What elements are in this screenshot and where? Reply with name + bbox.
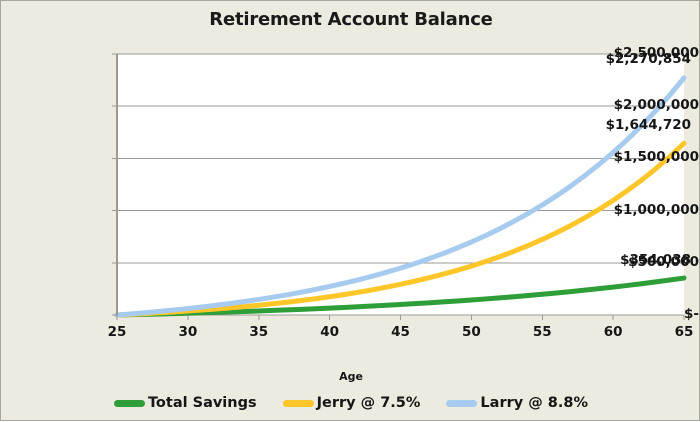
legend-item[interactable]: Total Savings bbox=[114, 395, 257, 411]
x-axis-tick-label: 55 bbox=[522, 324, 562, 340]
y-axis-tick-label: $1,000,000 bbox=[591, 202, 699, 218]
x-axis-tick-label: 50 bbox=[451, 324, 491, 340]
y-axis-tick-label: $1,500,000 bbox=[591, 149, 699, 165]
x-axis-tick-label: 25 bbox=[97, 324, 137, 340]
legend-color-swatch bbox=[283, 400, 314, 407]
series-end-value-label: $2,270,854 bbox=[606, 51, 691, 67]
x-axis-tick-label: 65 bbox=[664, 324, 700, 340]
series-end-value-label: $354,038 bbox=[620, 252, 691, 268]
chart-container: Retirement Account Balance $-$500,000$1,… bbox=[0, 0, 700, 421]
legend-item[interactable]: Larry @ 8.8% bbox=[446, 395, 588, 411]
x-axis-tick-label: 35 bbox=[239, 324, 279, 340]
x-axis-tick-label: 30 bbox=[168, 324, 208, 340]
x-axis-tick-label: 40 bbox=[310, 324, 350, 340]
legend-label: Jerry @ 7.5% bbox=[317, 395, 421, 411]
legend-label: Larry @ 8.8% bbox=[480, 395, 588, 411]
legend-color-swatch bbox=[114, 400, 145, 407]
legend-color-swatch bbox=[446, 400, 477, 407]
x-axis-title: Age bbox=[1, 370, 700, 383]
legend-label: Total Savings bbox=[148, 395, 257, 411]
x-axis-tick-label: 45 bbox=[381, 324, 421, 340]
y-axis-tick-label: $2,000,000 bbox=[591, 97, 699, 113]
y-axis-tick-label: $- bbox=[591, 306, 699, 322]
legend-item[interactable]: Jerry @ 7.5% bbox=[283, 395, 421, 411]
series-end-value-label: $1,644,720 bbox=[606, 117, 691, 133]
x-axis-tick-label: 60 bbox=[593, 324, 633, 340]
chart-legend: Total SavingsJerry @ 7.5%Larry @ 8.8% bbox=[1, 395, 700, 411]
